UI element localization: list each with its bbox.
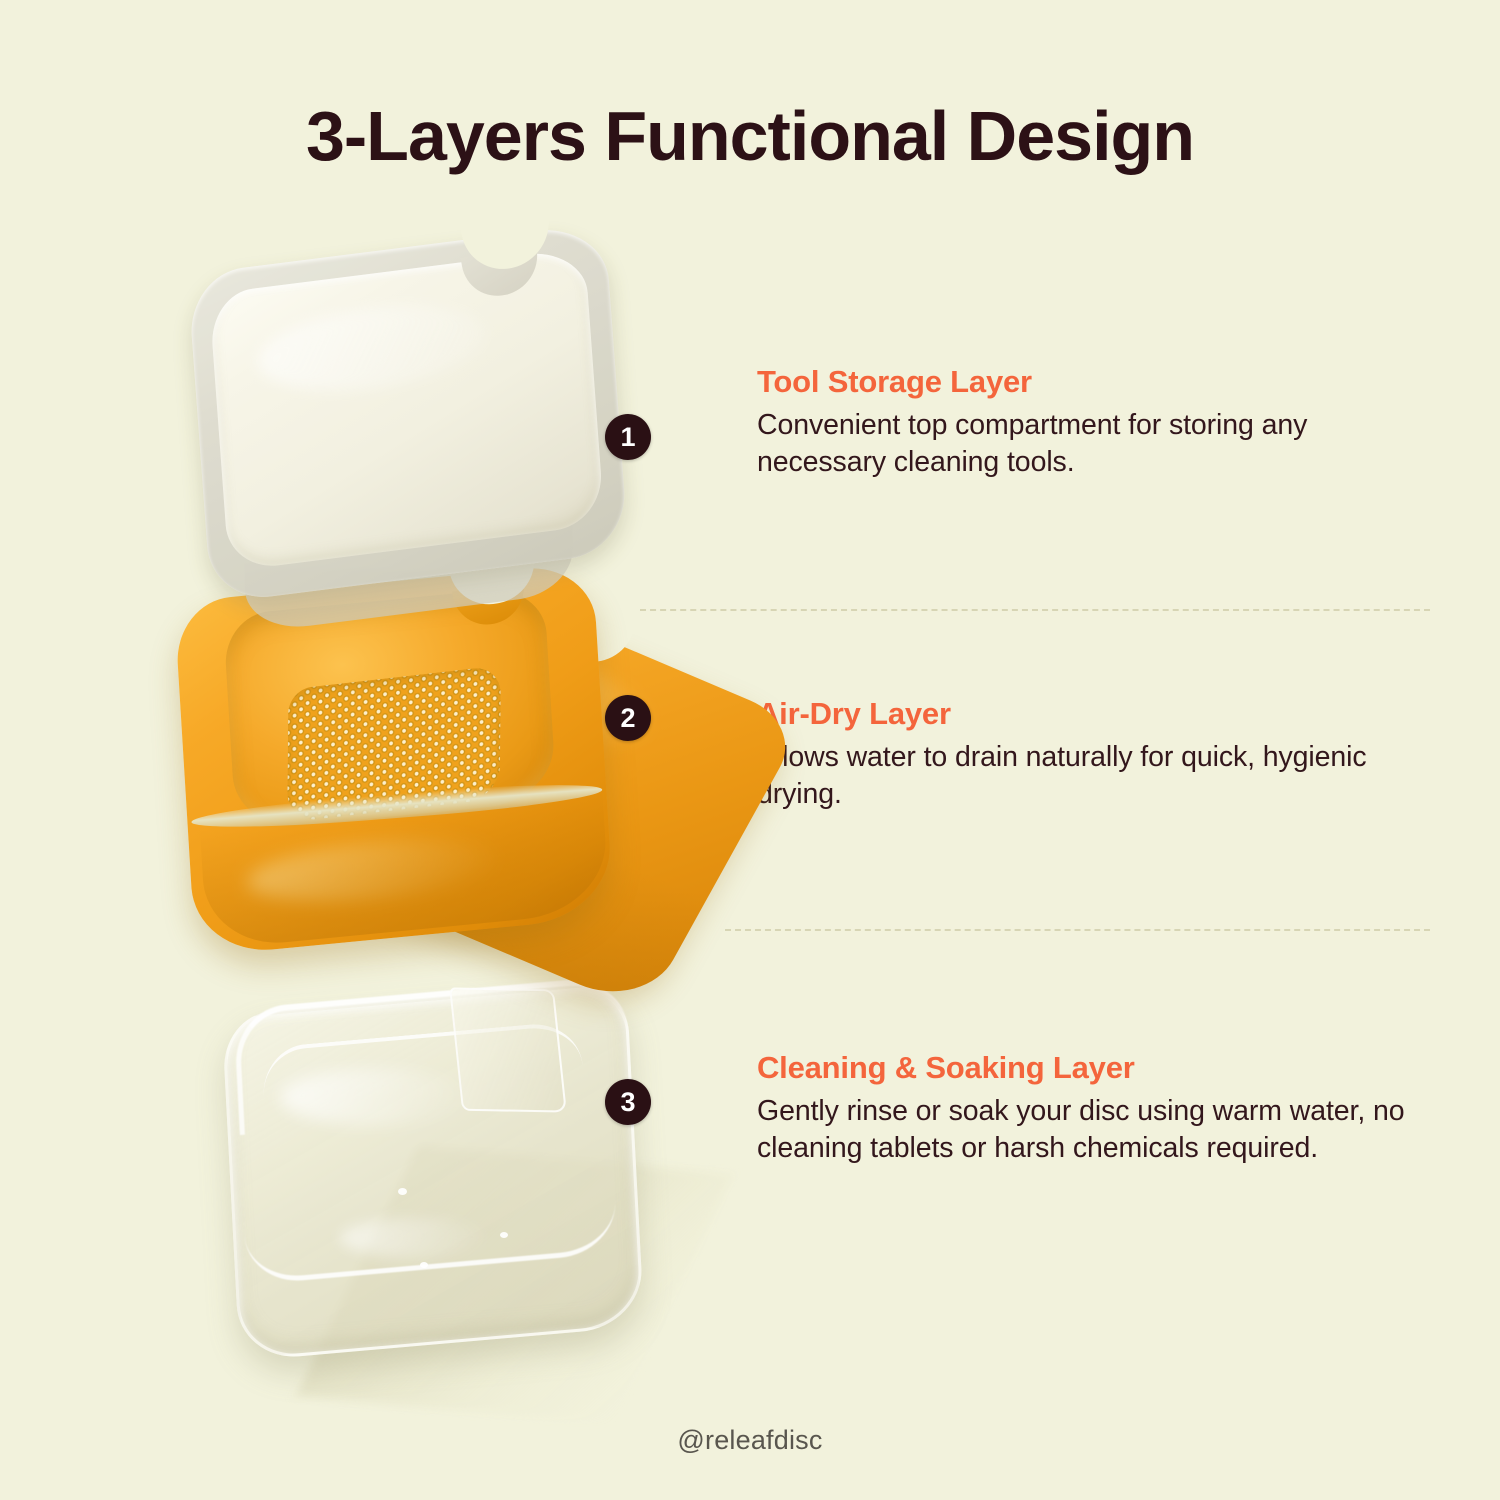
layer-number-badge-1[interactable]: 1 bbox=[605, 414, 651, 460]
jar-specular-dot bbox=[420, 1262, 428, 1268]
page-title: 3-Layers Functional Design bbox=[0, 100, 1500, 174]
product-part-translucent-cream-lid bbox=[187, 222, 628, 604]
jar-specular-dot bbox=[500, 1232, 508, 1238]
layer-number-badge-2[interactable]: 2 bbox=[605, 695, 651, 741]
layer-text-block-1: Tool Storage Layer Convenient top compar… bbox=[757, 364, 1417, 482]
product-part-orange-perforated-basket bbox=[158, 548, 738, 1018]
product-exploded-view bbox=[150, 230, 790, 1410]
layer-heading-3: Cleaning & Soaking Layer bbox=[757, 1050, 1417, 1086]
jar-specular-dot bbox=[398, 1188, 407, 1195]
layer-description-1: Convenient top compartment for storing a… bbox=[757, 407, 1417, 482]
layer-number-badge-3[interactable]: 3 bbox=[605, 1079, 651, 1125]
layer-heading-1: Tool Storage Layer bbox=[757, 364, 1417, 400]
layer-text-block-3: Cleaning & Soaking Layer Gently rinse or… bbox=[757, 1050, 1417, 1168]
layer-heading-2: Air-Dry Layer bbox=[757, 696, 1417, 732]
layer-description-2: Allows water to drain naturally for quic… bbox=[757, 739, 1417, 814]
lid-gloss-highlight bbox=[255, 294, 489, 403]
layer-description-3: Gently rinse or soak your disc using war… bbox=[757, 1093, 1417, 1168]
infographic-page: 3-Layers Functional Design bbox=[0, 0, 1500, 1500]
lid-inner-plate bbox=[209, 247, 605, 572]
product-part-clear-soaking-jar bbox=[210, 978, 670, 1378]
basket-body bbox=[174, 562, 614, 957]
layer-text-block-2: Air-Dry Layer Allows water to drain natu… bbox=[757, 696, 1417, 814]
jar-gloss-highlight-lower bbox=[340, 1218, 490, 1258]
section-divider bbox=[725, 929, 1430, 931]
social-handle[interactable]: @releafdisc bbox=[0, 1425, 1500, 1456]
jar-gloss-highlight-upper bbox=[280, 1068, 470, 1126]
